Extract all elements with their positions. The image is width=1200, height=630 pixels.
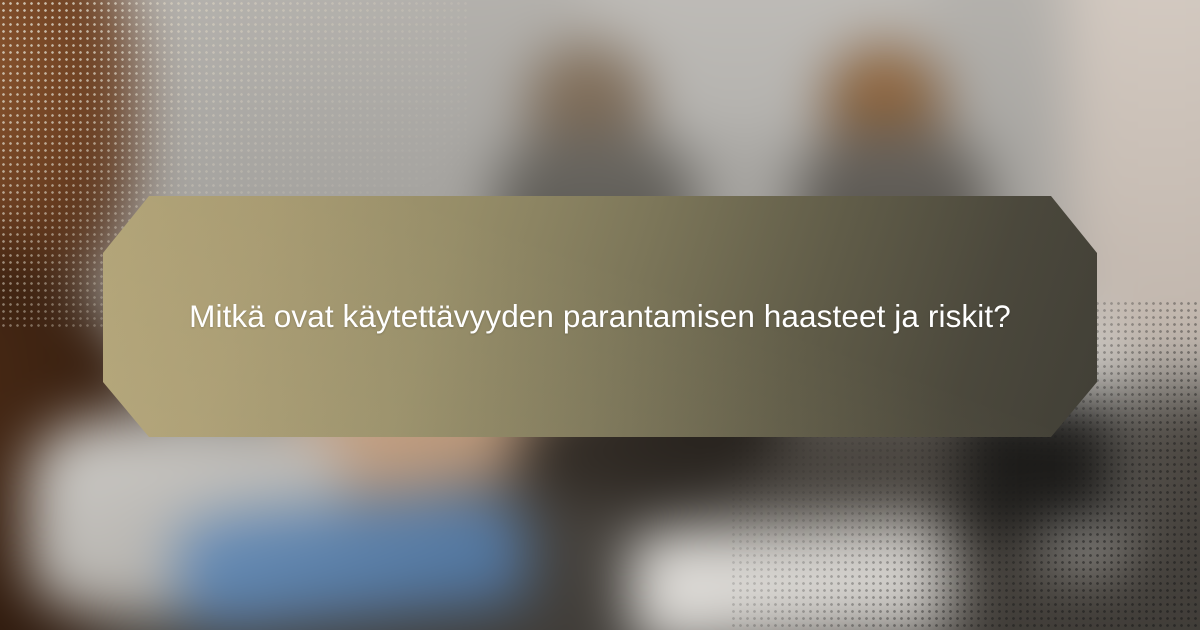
headline-text: Mitkä ovat käytettävyyden parantamisen h…	[183, 289, 1018, 343]
background-paper	[629, 519, 953, 630]
headline-banner: Mitkä ovat käytettävyyden parantamisen h…	[103, 196, 1097, 437]
social-share-card: Mitkä ovat käytettävyyden parantamisen h…	[0, 0, 1200, 630]
